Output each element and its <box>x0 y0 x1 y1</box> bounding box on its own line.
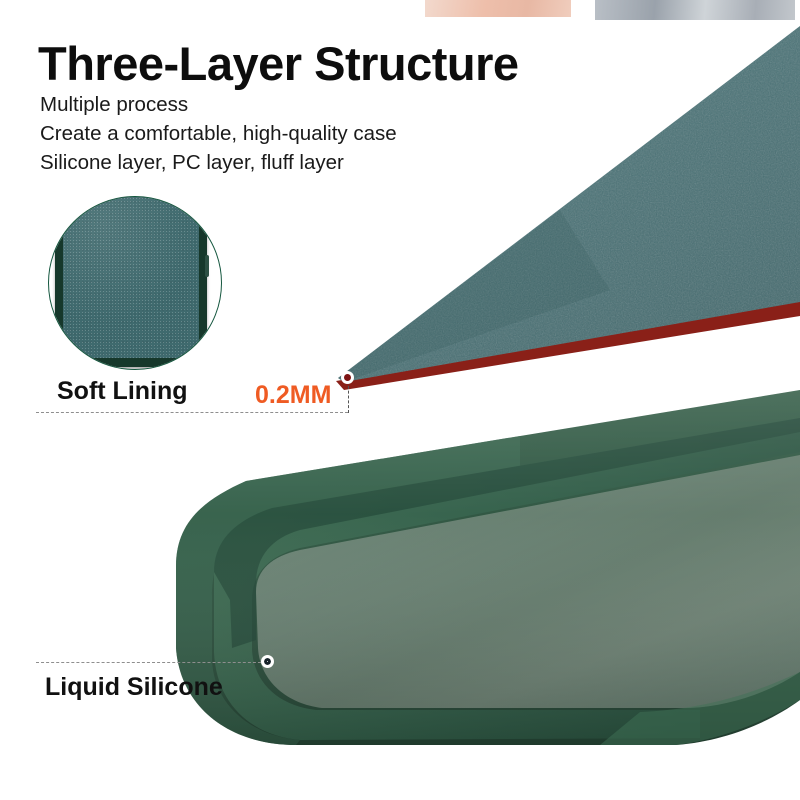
inset-lining-texture <box>63 196 199 358</box>
liquid-silicone-leader-line <box>36 662 266 663</box>
pc-layer-marker-dot <box>341 371 354 384</box>
grey-image-remnant <box>595 0 795 20</box>
subtitle-line-2: Create a comfortable, high-quality case <box>40 122 397 146</box>
liquid-silicone-shell <box>176 390 800 745</box>
thickness-leader-line <box>348 381 349 413</box>
inset-side-button <box>205 255 209 277</box>
inset-case-body <box>55 196 207 367</box>
silicone-marker-dot <box>261 655 274 668</box>
soft-lining-closeup-inset <box>48 196 222 370</box>
thickness-label: 0.2MM <box>255 381 331 410</box>
pink-image-remnant <box>425 0 571 17</box>
soft-lining-label: Soft Lining <box>57 377 188 406</box>
liquid-silicone-label: Liquid Silicone <box>45 673 223 702</box>
subtitle-line-3: Silicone layer, PC layer, fluff layer <box>40 151 344 175</box>
page-title: Three-Layer Structure <box>38 36 519 91</box>
pc-layer-edge <box>336 300 800 390</box>
subtitle-line-1: Multiple process <box>40 93 188 117</box>
product-infographic: Three-Layer Structure Multiple process C… <box>0 0 800 800</box>
soft-lining-leader-line <box>36 412 348 413</box>
